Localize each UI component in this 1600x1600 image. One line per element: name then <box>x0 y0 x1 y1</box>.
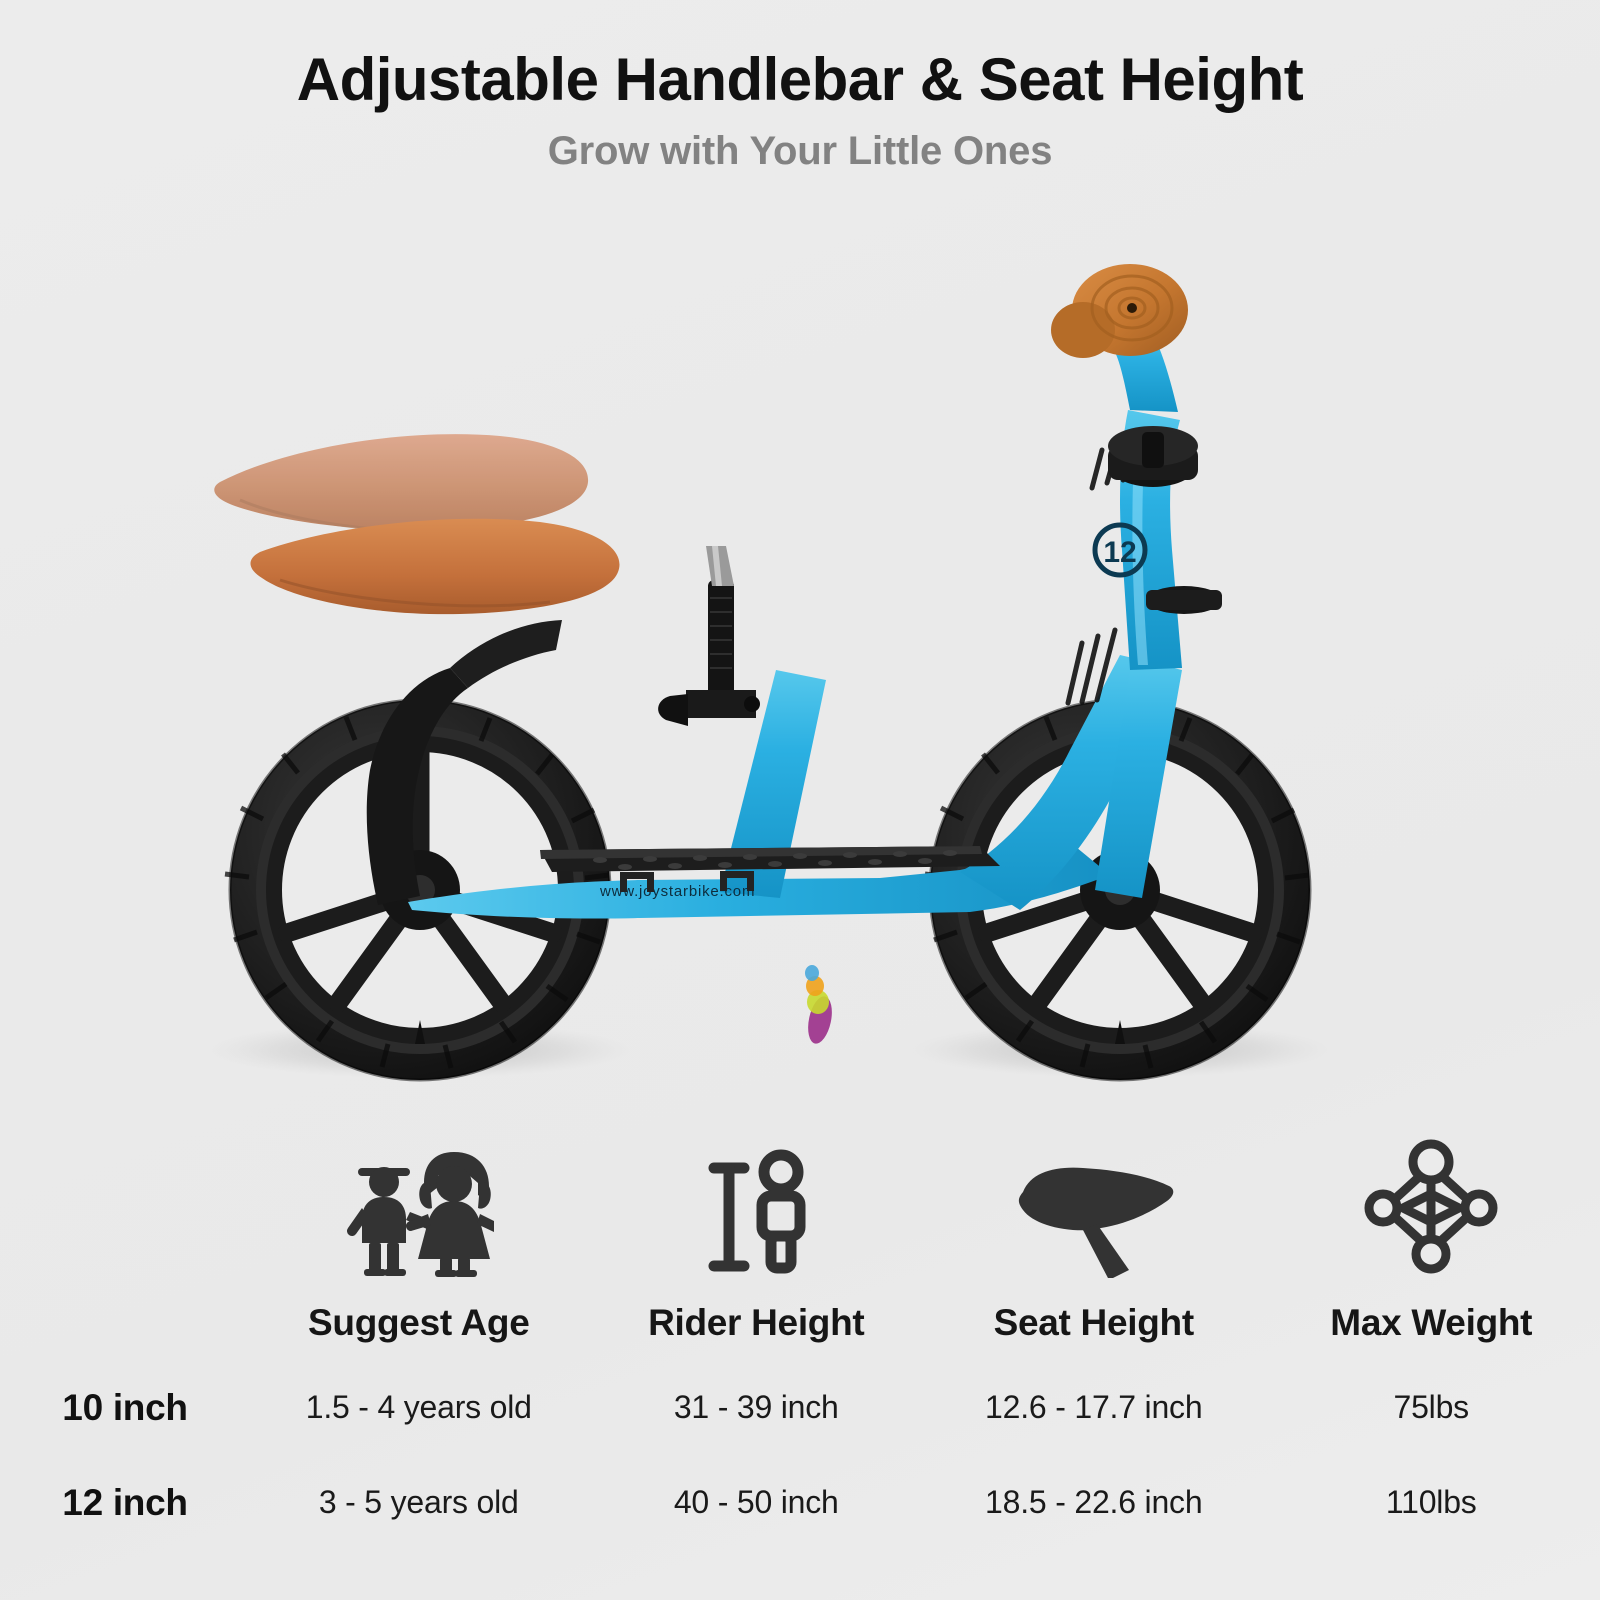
cell-12inch-rider-height: 40 - 50 inch <box>588 1484 926 1521</box>
page-subtitle: Grow with Your Little Ones <box>0 129 1600 174</box>
saddle-rail <box>706 546 734 586</box>
cell-12inch-max-weight: 110lbs <box>1263 1484 1600 1521</box>
cell-12inch-suggest-age: 3 - 5 years old <box>250 1484 588 1521</box>
column-header-rider-height: Rider Height <box>588 1302 926 1344</box>
bike-saddle-icon <box>925 1128 1263 1278</box>
spec-table: Suggest Age Rider Height Seat Height Max… <box>0 1120 1600 1590</box>
infographic-page: Adjustable Handlebar & Seat Height Grow … <box>0 0 1600 1600</box>
product-image-balance-bike: 12 www.joystarbike.com <box>120 250 1500 1110</box>
cell-10inch-rider-height: 31 - 39 inch <box>588 1389 926 1426</box>
handlebar-grip <box>1051 264 1188 358</box>
cell-10inch-max-weight: 75lbs <box>1263 1389 1600 1426</box>
weight-node-diamond-icon <box>1263 1128 1600 1278</box>
column-header-max-weight: Max Weight <box>1263 1302 1600 1344</box>
column-header-suggest-age: Suggest Age <box>250 1302 588 1344</box>
stem-clamp-lower <box>1146 586 1222 614</box>
saddle-upper-position <box>214 434 588 532</box>
frame-decal-sticker <box>804 965 835 1046</box>
seat-post <box>658 580 760 726</box>
cell-12inch-seat-height: 18.5 - 22.6 inch <box>925 1484 1263 1521</box>
two-children-icon <box>250 1128 588 1278</box>
svg-text:12: 12 <box>1103 536 1136 569</box>
row-header-12-inch: 12 inch <box>0 1482 250 1524</box>
column-header-seat-height: Seat Height <box>925 1302 1263 1344</box>
page-title: Adjustable Handlebar & Seat Height <box>0 46 1600 113</box>
ruler-person-icon <box>588 1128 926 1278</box>
cell-10inch-suggest-age: 1.5 - 4 years old <box>250 1389 588 1426</box>
handlebar-clamp-upper <box>1108 426 1198 487</box>
header: Adjustable Handlebar & Seat Height Grow … <box>0 46 1600 174</box>
saddle-lower-position <box>251 519 620 614</box>
cell-10inch-seat-height: 12.6 - 17.7 inch <box>925 1389 1263 1426</box>
row-header-10-inch: 10 inch <box>0 1387 250 1429</box>
